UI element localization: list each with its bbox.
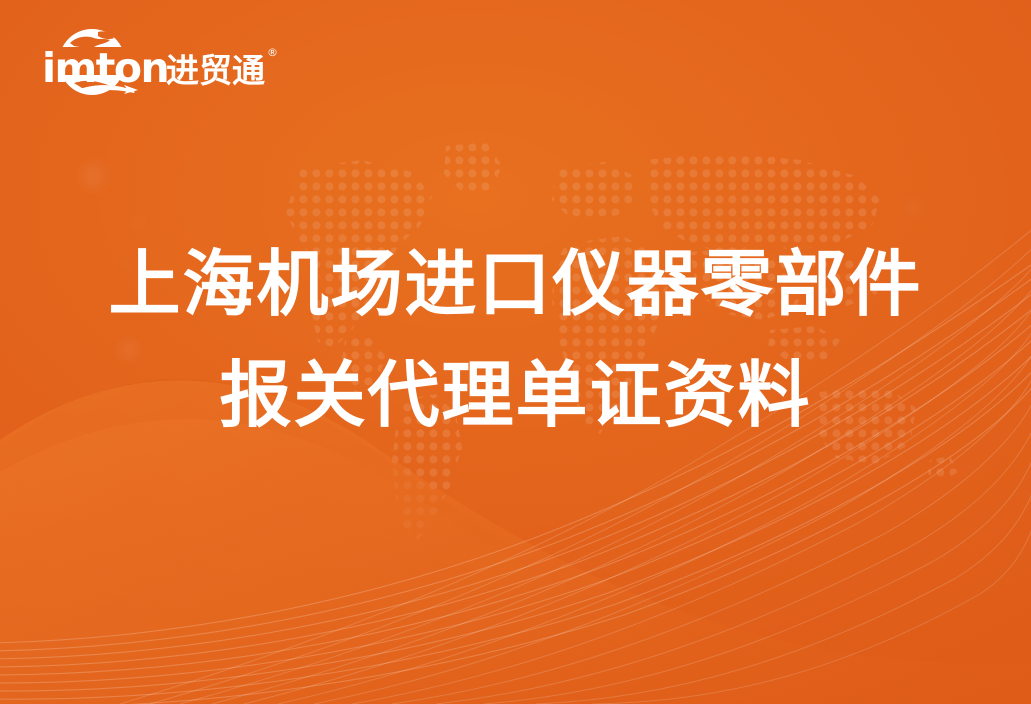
bokeh-circle xyxy=(905,198,923,216)
bokeh-circle xyxy=(70,430,86,446)
bokeh-circle xyxy=(80,163,106,189)
page-title: 上海机场进口仪器零部件 报关代理单证资料 xyxy=(0,248,1031,431)
title-line-2: 报关代理单证资料 xyxy=(0,359,1031,431)
bokeh-circle xyxy=(214,150,224,160)
bokeh-circle xyxy=(133,217,145,229)
trademark-icon: ® xyxy=(267,47,278,58)
title-line-1: 上海机场进口仪器零部件 xyxy=(0,248,1031,320)
logo-chinese-text: 进贸通 xyxy=(166,51,265,90)
logo-mark: imton xyxy=(40,27,168,101)
logo-wordmark: imton xyxy=(42,48,168,89)
brand-logo[interactable]: imton 进贸通 ® xyxy=(40,27,265,101)
poster-canvas: imton 进贸通 ® 上海机场进口仪器零部件 报关代理单证资料 xyxy=(0,0,1031,704)
logo-chinese-name: 进贸通 ® xyxy=(166,41,265,87)
